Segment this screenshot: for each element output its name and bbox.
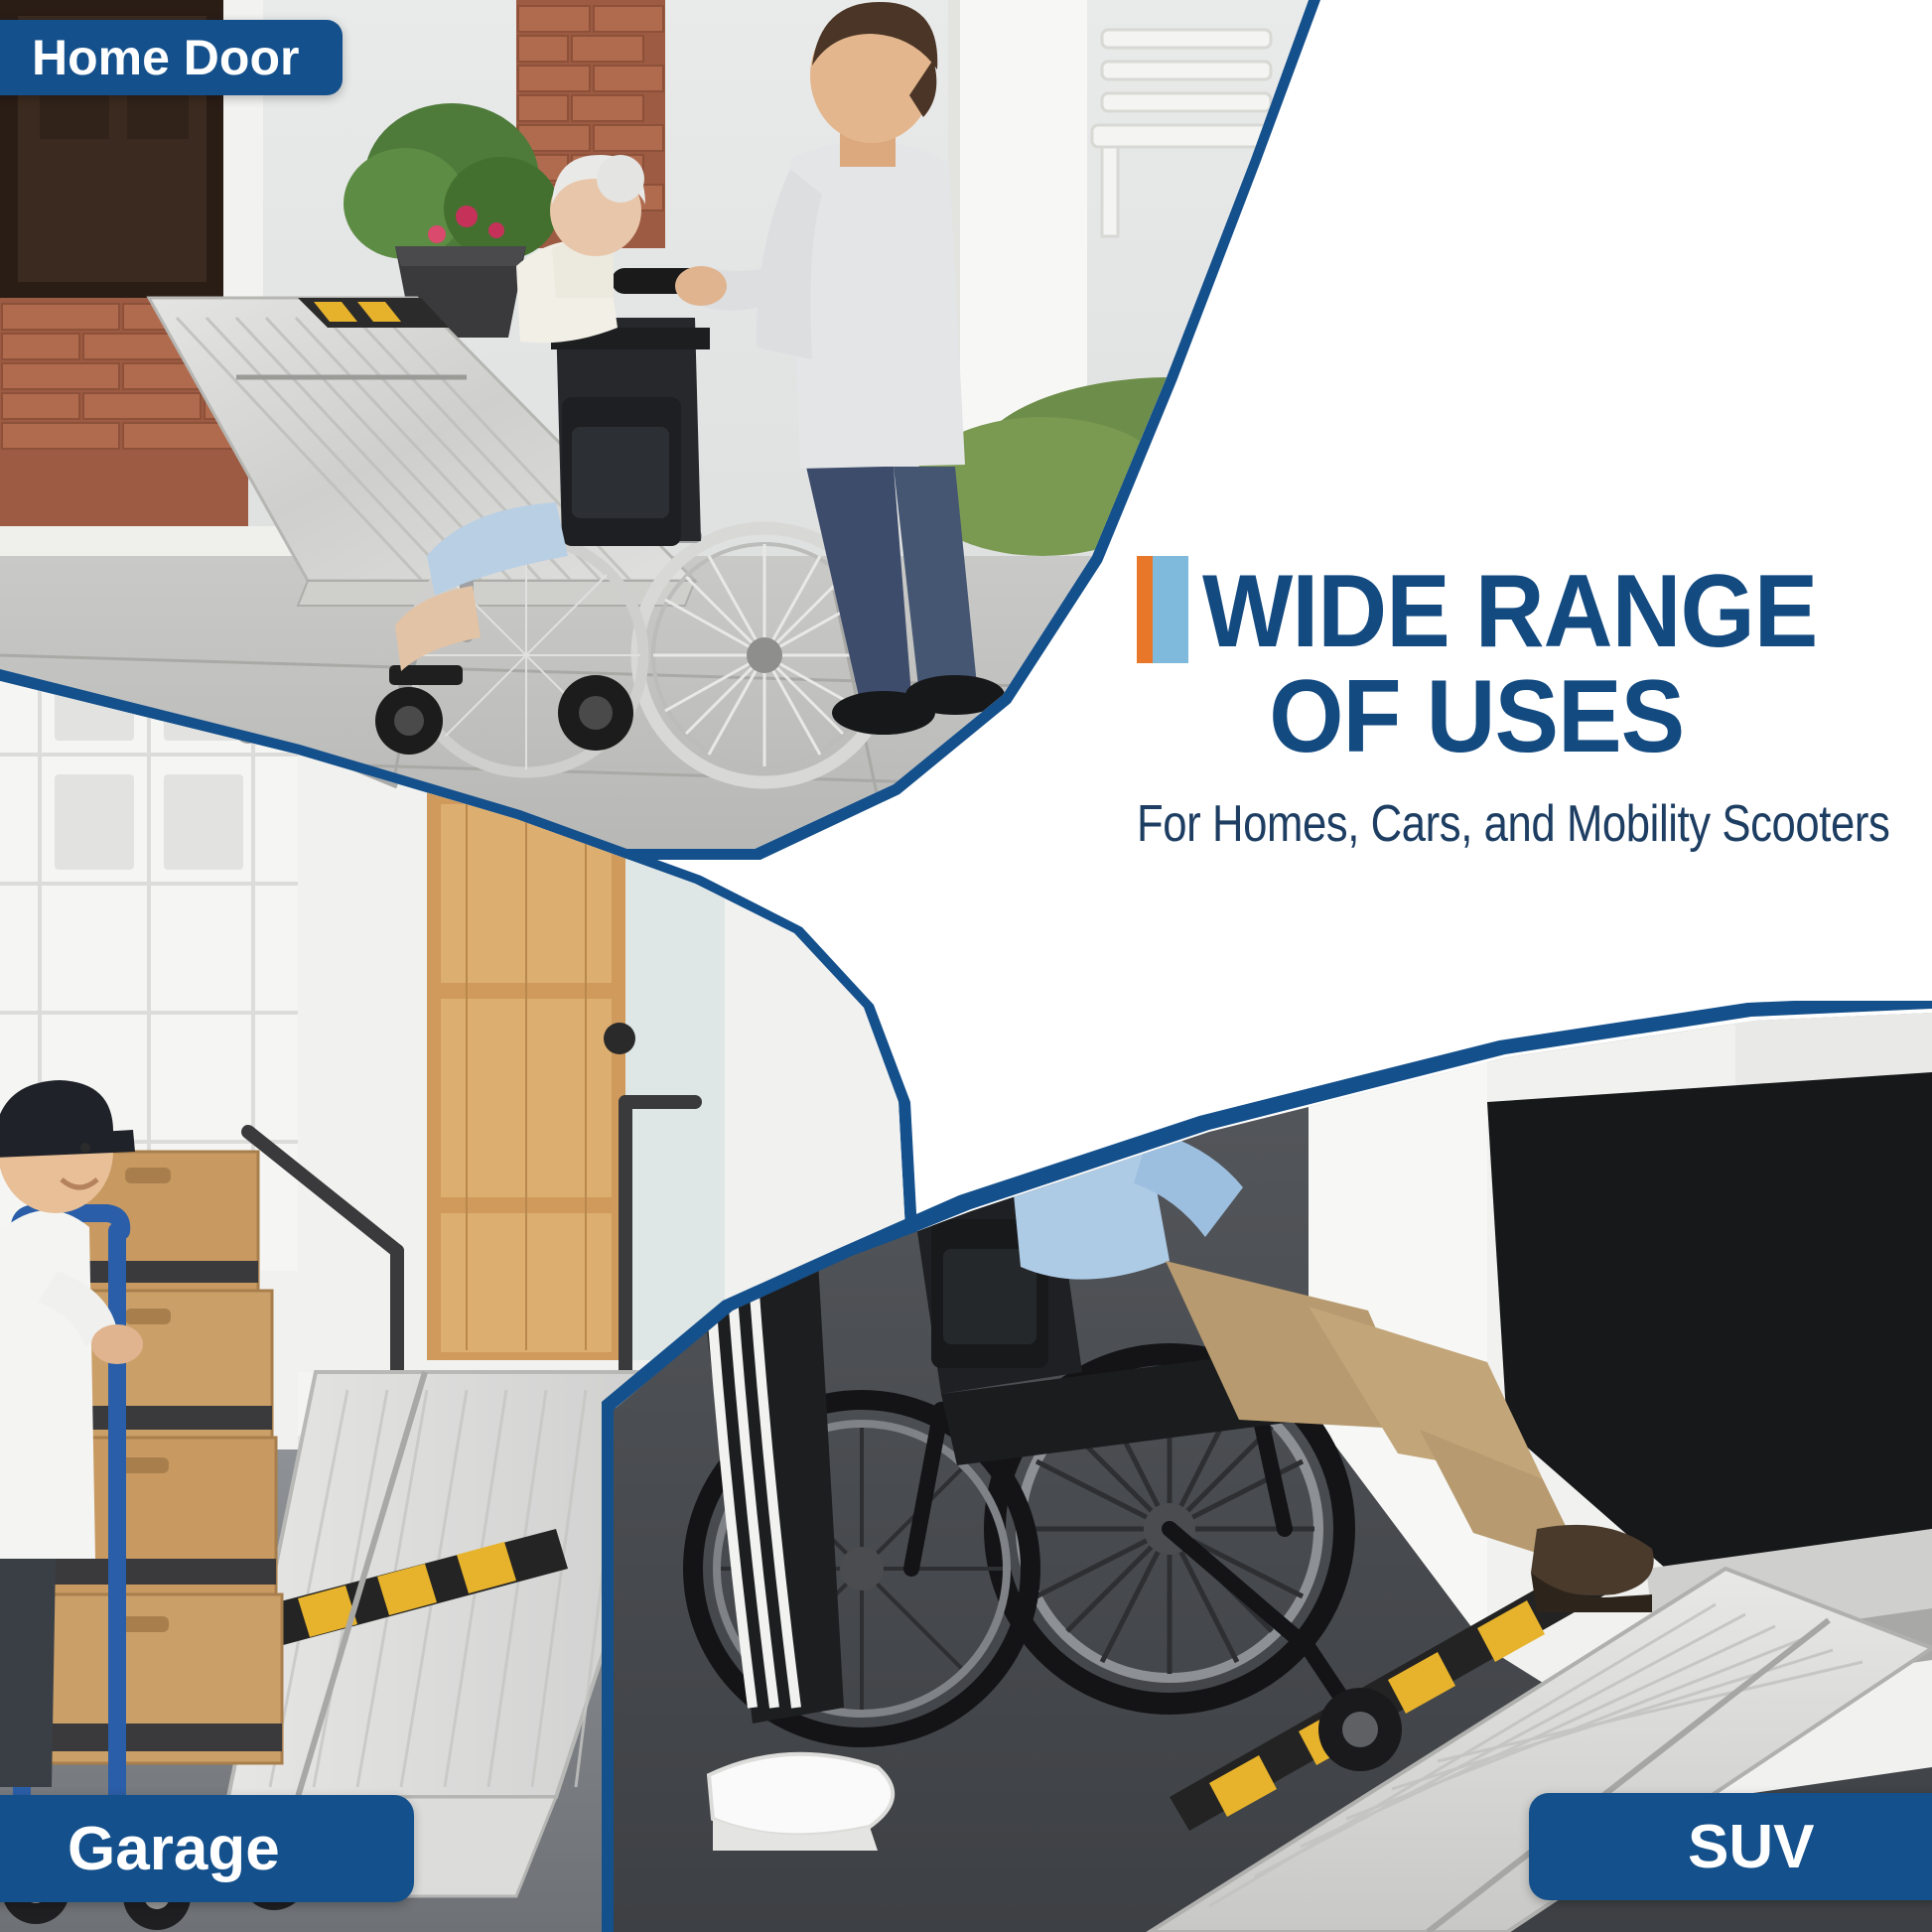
- headline-line2: OF USES: [1137, 667, 1866, 768]
- light-blue-accent-bar: [1153, 556, 1188, 663]
- headline-block: WIDE RANGE OF USES For Homes, Cars, and …: [1137, 556, 1921, 854]
- badge-suv: SUV: [1529, 1793, 1932, 1900]
- badge-garage: Garage: [0, 1795, 414, 1902]
- orange-accent-bar: [1137, 556, 1153, 663]
- headline-line1-row: WIDE RANGE: [1137, 556, 1921, 663]
- headline-line1: WIDE RANGE: [1202, 556, 1817, 663]
- product-infographic: WIDE RANGE OF USES For Homes, Cars, and …: [0, 0, 1932, 1932]
- subtitle-text: For Homes, Cars, and Mobility Scooters: [1137, 794, 1796, 854]
- badge-home-door: Home Door: [0, 20, 343, 95]
